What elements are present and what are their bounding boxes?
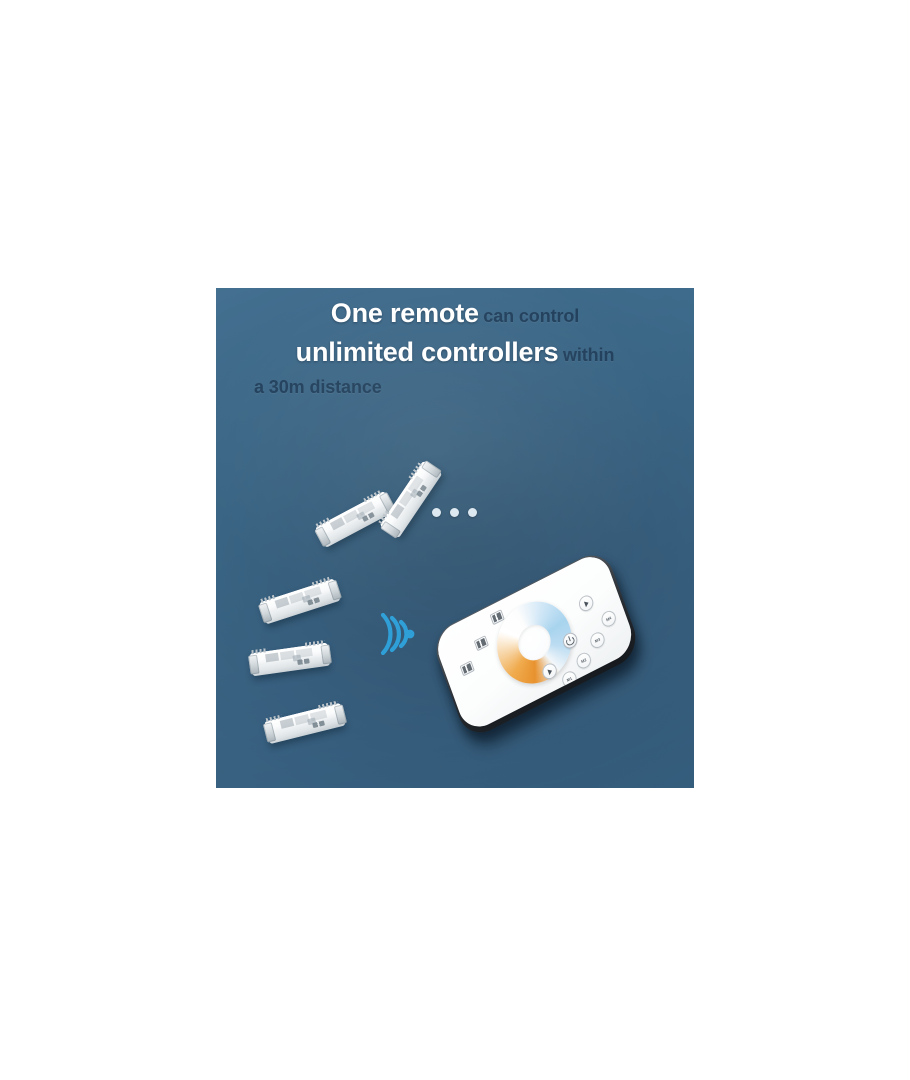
rf-signal-icon [374,613,418,655]
headline-strong-2: unlimited controllers [296,337,559,367]
headline-strong-1: One remote [331,298,479,328]
zone-icon [476,638,486,649]
ellipsis-dot [432,508,441,517]
brightness-up-button[interactable] [577,593,596,614]
ellipsis-dot [450,508,459,517]
controller-module [264,703,345,744]
zone-button-1[interactable] [460,660,475,676]
headline-line-2: unlimited controllers within [216,339,694,366]
led-remote-control[interactable]: M4 M3 M2 M1 [438,588,674,778]
headline-line-3: a 30m distance [216,378,694,397]
headline-soft-2: within [563,345,614,365]
memory-button-m4[interactable]: M4 [599,608,618,629]
zone-icon [492,612,502,623]
memory-button-m2[interactable]: M2 [575,650,594,671]
ellipsis-dot [468,508,477,517]
controller-terminal-right [320,644,332,664]
page-canvas: One remote can control unlimited control… [0,0,910,1080]
headline-soft-1: can control [483,306,579,326]
product-feature-panel: One remote can control unlimited control… [216,288,694,788]
zone-icon [462,663,472,674]
memory-button-m3[interactable]: M3 [588,630,607,651]
headline-soft-3: a 30m distance [254,377,382,397]
controller-module [259,579,340,625]
controller-module [250,643,330,677]
more-controllers-ellipsis [432,508,477,517]
controller-certification-mark [297,658,310,665]
headline-block: One remote can control unlimited control… [216,300,694,409]
zone-button-2[interactable] [474,635,489,651]
headline-line-1: One remote can control [216,300,694,327]
controller-print-label [391,476,424,519]
